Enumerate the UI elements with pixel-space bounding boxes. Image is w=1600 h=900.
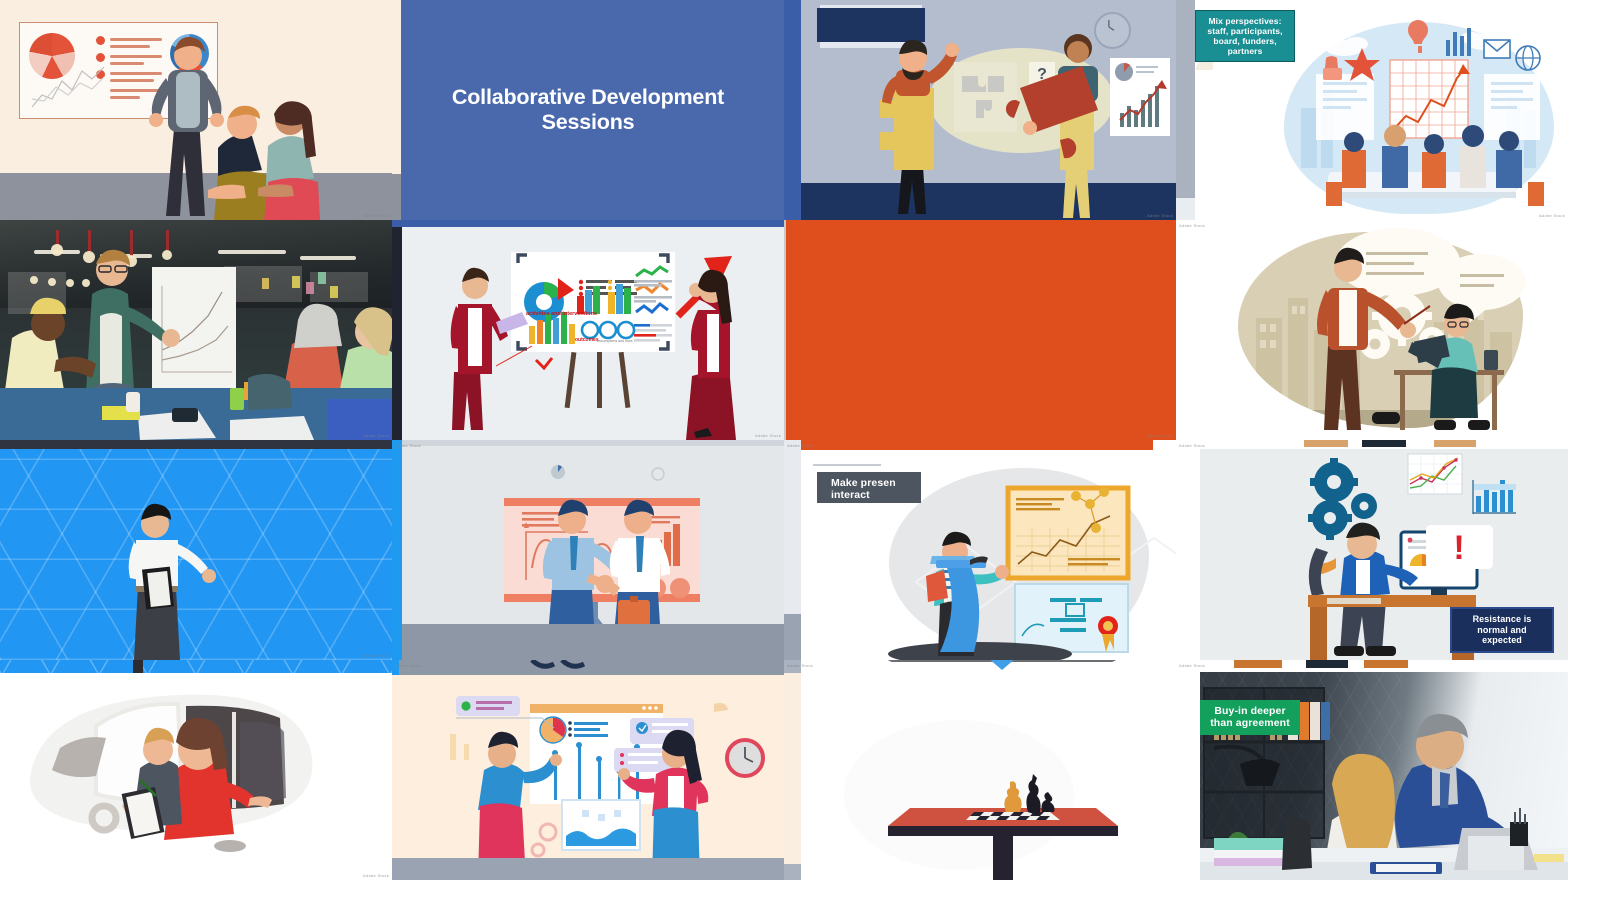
watermark: Adobe Stock: [1179, 443, 1205, 448]
left-edge-strip-bottom: [392, 174, 401, 220]
slide-title: Collaborative Development Sessions: [448, 85, 728, 136]
left-rail: [1176, 660, 1200, 880]
watermark: Adobe Stock: [395, 443, 421, 448]
presenter-figure: [0, 0, 392, 220]
slide-annotation-label: Resistance is normal and expected: [1450, 607, 1554, 653]
label-rule: [813, 464, 881, 466]
presenter-with-folder: [0, 440, 392, 660]
slide-annotation-label: Buy-in deeper than agreement: [1200, 700, 1300, 735]
watermark: Adobe Stock: [1179, 223, 1205, 228]
watermark: Adobe Stock: [787, 443, 813, 448]
watermark: Adobe Stock: [363, 653, 389, 658]
watermark: Adobe Stock: [363, 873, 389, 878]
watermark: Adobe Stock: [1147, 433, 1173, 438]
slide-thumbnail-grid: Adobe Stock Collaborative Development Se…: [0, 0, 1568, 880]
slide-thumbnail-1[interactable]: Adobe Stock: [0, 0, 392, 220]
svg-text:!: !: [1453, 529, 1464, 567]
gears-and-speech-scene: [1176, 220, 1568, 440]
left-rail: [784, 220, 786, 440]
slide-thumbnail-12[interactable]: ! Resistance is normal and expected Adob…: [1176, 440, 1568, 660]
watermark: Adobe Stock: [1147, 213, 1173, 218]
slide-thumbnail-8[interactable]: Adobe Stock: [1176, 220, 1568, 440]
top-white-strip: [1176, 660, 1568, 672]
people-with-puzzle-pieces: [784, 0, 1176, 220]
slide-annotation-label: Make presen interact: [817, 472, 921, 503]
watermark: Adobe Stock: [395, 663, 421, 668]
watermark: Adobe Stock: [363, 433, 389, 438]
svg-text:activities and interventions: activities and interventions: [526, 311, 597, 317]
slide-thumbnail-13[interactable]: Adobe Stock: [0, 660, 392, 880]
slide-thumbnail-3[interactable]: ?: [784, 0, 1176, 220]
slide-thumbnail-10[interactable]: Adobe Stock: [392, 440, 784, 660]
svg-text:assumptions and risks: assumptions and risks: [597, 339, 633, 343]
infographic-easel-scene: activities and interventions outcomes as…: [392, 220, 784, 440]
slide-annotation-label: Mix perspectives: staff, participants, b…: [1195, 10, 1295, 62]
floor-band: [392, 858, 784, 880]
slide-thumbnail-4[interactable]: Mix perspectives: staff, participants, b…: [1176, 0, 1568, 220]
bottom-strip: [1176, 430, 1568, 440]
watermark: Adobe Stock: [787, 663, 813, 668]
floor-band: [402, 624, 784, 660]
svg-text:outcomes: outcomes: [575, 337, 599, 343]
watermark: Adobe Stock: [1179, 663, 1205, 668]
watermark: Adobe Stock: [1539, 213, 1565, 218]
watermark: Adobe Stock: [363, 213, 389, 218]
dashboard-presentation-scene: [392, 660, 784, 880]
car-scene: [0, 660, 392, 880]
slide-thumbnail-6[interactable]: activities and interventions outcomes as…: [392, 220, 784, 440]
slide-thumbnail-2[interactable]: Collaborative Development Sessions: [392, 0, 784, 220]
slide-thumbnail-7[interactable]: Adobe Stock: [784, 220, 1176, 440]
slide-thumbnail-11[interactable]: Make presen interact Adobe Stock: [784, 440, 1176, 660]
slide-thumbnail-9[interactable]: Adobe Stock: [0, 440, 392, 660]
watermark: Adobe Stock: [755, 433, 781, 438]
slide-thumbnail-5[interactable]: Adobe Stock: [0, 220, 392, 440]
slide-thumbnail-16[interactable]: Buy-in deeper than agreement Adobe Stock: [1176, 660, 1568, 880]
slide-thumbnail-14[interactable]: Adobe Stock: [392, 660, 784, 880]
chess-table-scene: [784, 660, 1176, 880]
slide-thumbnail-15[interactable]: Adobe Stock: [784, 660, 1176, 880]
